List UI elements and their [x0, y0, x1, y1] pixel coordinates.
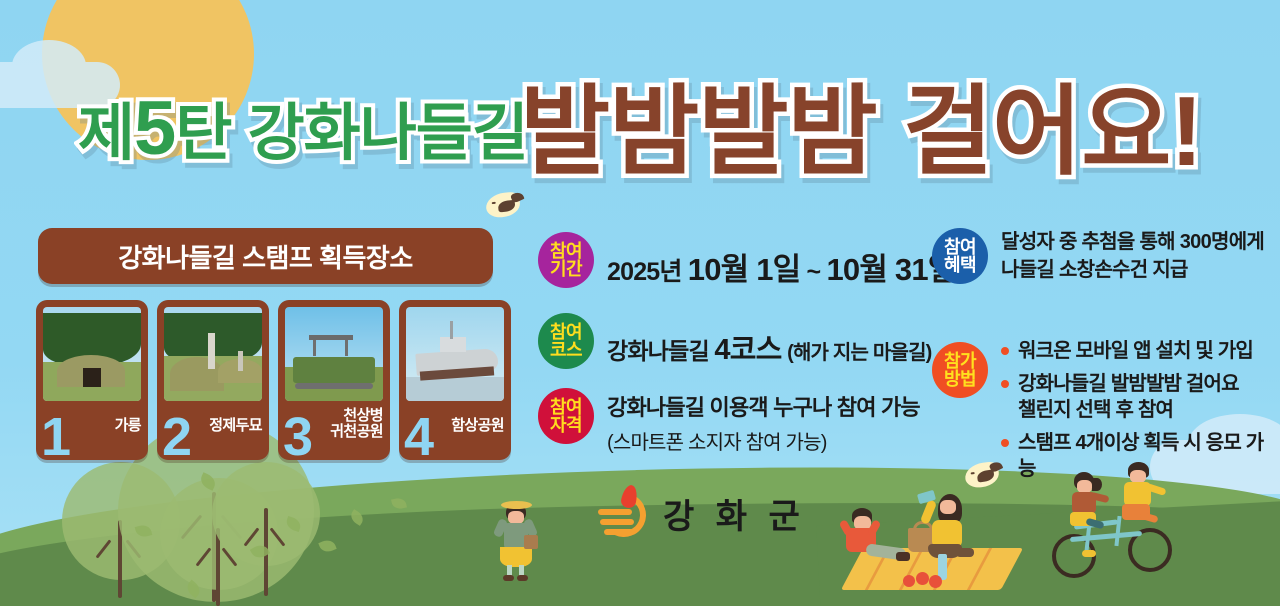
badge-benefit-line1: 참여 [944, 238, 976, 256]
apple-icon [916, 572, 929, 585]
badge-qualification-line1: 참여 [550, 398, 582, 416]
info-row-method: 참가 방법 워크온 모바일 앱 설치 및 가입 강화나들길 발밤발밤 걸어요 챌… [932, 342, 1280, 489]
stamp-card-number: 4 [404, 410, 434, 464]
benefit-text-group: 달성자 중 추첨을 통해 300명에게 나들길 소창손수건 지급 [1001, 229, 1264, 284]
stamp-card[interactable]: 1 가릉 [36, 300, 148, 460]
stamp-panel-title: 강화나들길 스탬프 획득장소 [118, 238, 413, 275]
stamp-card-label: 함상공원 [451, 418, 504, 434]
course-detail: (해가 지는 마을길) [787, 342, 931, 364]
logo-name: 강 화 군 [663, 489, 806, 538]
ganghwa-emblem-icon [598, 487, 650, 539]
stamp-card-number: 1 [41, 410, 71, 464]
stamp-card-photo [164, 307, 262, 401]
benefit-line1: 달성자 중 추첨을 통해 300명에게 [1001, 229, 1264, 257]
badge-benefit: 참여 혜택 [932, 228, 988, 284]
stamp-card-label: 천상병 귀천공원 [330, 408, 383, 440]
stamp-card-label-line1: 가릉 [115, 418, 141, 434]
stamp-panel-banner: 강화나들길 스탬프 획득장소 [38, 228, 493, 284]
headline-prefix: 제 [78, 99, 134, 168]
badge-qualification: 참여 자격 [538, 388, 594, 444]
headline-main: 발밤발밤 걸어요! [520, 52, 1202, 194]
badge-course-line1: 참여 [550, 323, 582, 341]
apple-icon [929, 575, 942, 588]
course-trail: 강화나들길 [607, 338, 709, 364]
stamp-card-photo [285, 307, 383, 401]
headline-prefix-suffix: 탄 [175, 99, 231, 168]
stamp-card-number: 3 [283, 410, 313, 464]
badge-qualification-line2: 자격 [550, 416, 582, 434]
info-row-benefit: 참여 혜택 달성자 중 추첨을 통해 300명에게 나들길 소창손수건 지급 [932, 228, 1264, 284]
badge-course: 참여 코스 [538, 313, 594, 369]
tree-icon [212, 462, 322, 592]
stamp-card-label-line1: 함상공원 [451, 418, 504, 434]
apple-icon [903, 575, 915, 587]
method-list-item: 워크온 모바일 앱 설치 및 가입 [1001, 338, 1280, 364]
stamp-location-cards: 1 가릉 2 정제두묘 [36, 300, 511, 460]
poster-canvas: 제5탄 강화나들길 발밤발밤 걸어요! 강화나들길 스탬프 획득장소 1 [0, 0, 1280, 606]
bird-icon [485, 191, 521, 218]
stamp-card-label-line1: 정제두묘 [209, 418, 262, 434]
stamp-card-photo [406, 307, 504, 401]
stamp-card-label-line2: 귀천공원 [330, 424, 383, 440]
stamp-card-number: 2 [162, 410, 192, 464]
benefit-line2: 나들길 소창손수건 지급 [1001, 257, 1264, 285]
headline-subtitle: 제5탄 강화나들길 [78, 82, 528, 172]
bicycle-rider-front-illustration [1066, 472, 1114, 534]
headline: 제5탄 강화나들길 발밤발밤 걸어요! [0, 60, 1280, 180]
period-year: 2025년 [607, 258, 682, 286]
stamp-card[interactable]: 4 함상공원 [399, 300, 511, 460]
badge-method: 참가 방법 [932, 342, 988, 398]
course-text: 강화나들길 4코스 (해가 지는 마을길) [607, 326, 932, 368]
badge-period: 참여 기간 [538, 232, 594, 288]
period-tilde: ~ [807, 258, 821, 286]
method-list-item: 강화나들길 발밤발밤 걸어요 챌린지 선택 후 참여 [1001, 371, 1280, 423]
qualification-text-group: 강화나들길 이용객 누구나 참여 가능 (스마트폰 소지자 참여 가능) [607, 390, 920, 455]
bicycle-rider-back-illustration [1118, 462, 1168, 528]
badge-course-line2: 코스 [550, 341, 582, 359]
stamp-card[interactable]: 2 정제두묘 [157, 300, 269, 460]
course-number: 4코스 [714, 334, 781, 366]
badge-method-line2: 방법 [944, 370, 976, 388]
stamp-card-label: 가릉 [115, 418, 141, 434]
qualification-main: 강화나들길 이용객 누구나 참여 가능 [607, 390, 920, 422]
ganghwa-county-logo: 강 화 군 [598, 487, 806, 539]
stamp-card[interactable]: 3 천상병 귀천공원 [278, 300, 390, 460]
period-start: 10월 1일 [688, 252, 801, 287]
qualification-sub: (스마트폰 소지자 참여 가능) [607, 426, 920, 455]
info-row-qualification: 참여 자격 강화나들길 이용객 누구나 참여 가능 (스마트폰 소지자 참여 가… [538, 388, 920, 455]
badge-period-line1: 참여 [550, 242, 582, 260]
stamp-card-label: 정제두묘 [209, 418, 262, 434]
headline-trail-name: 강화나들길 [248, 99, 528, 168]
picnic-man-illustration [840, 508, 910, 566]
info-row-course: 참여 코스 강화나들길 4코스 (해가 지는 마을길) [538, 313, 932, 369]
badge-period-line2: 기간 [550, 260, 582, 278]
period-text: 2025년 10월 1일 ~ 10월 31일 [607, 244, 956, 289]
walking-woman-illustration [488, 495, 542, 581]
stamp-card-label-line1: 천상병 [330, 408, 383, 424]
stamp-card-photo [43, 307, 141, 401]
badge-method-line1: 참가 [944, 352, 976, 370]
badge-benefit-line2: 혜택 [944, 256, 976, 274]
info-row-period: 참여 기간 2025년 10월 1일 ~ 10월 31일 [538, 232, 956, 289]
headline-episode-number: 5 [134, 86, 175, 171]
